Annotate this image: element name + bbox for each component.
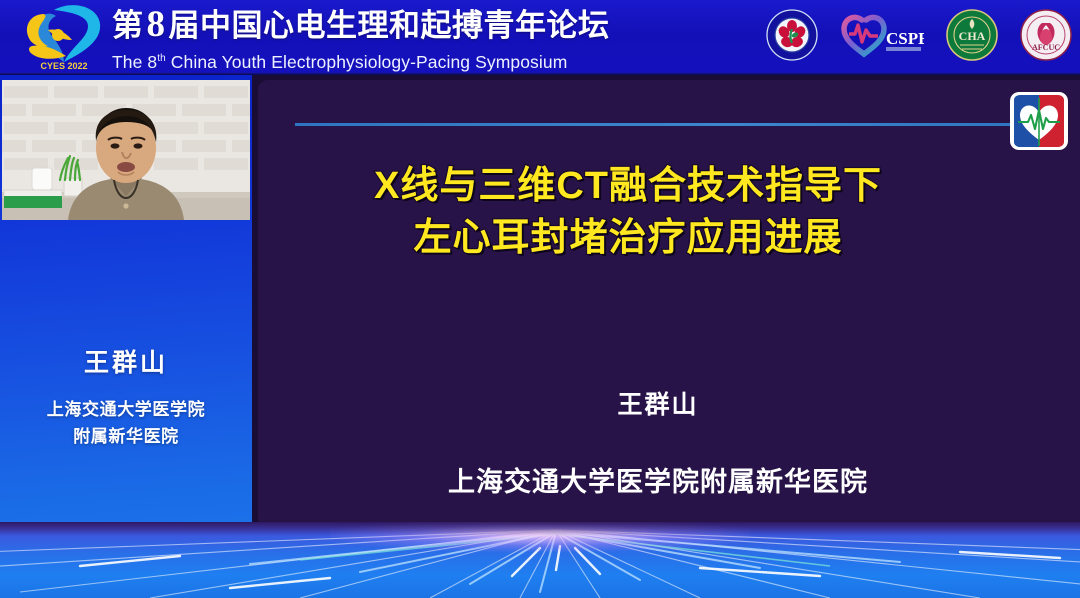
afcuc-logo-text: AFCUC (1032, 43, 1060, 52)
title-en-ordinal-suffix: th (157, 53, 166, 64)
presentation-slide: X线与三维CT融合技术指导下 左心耳封堵治疗应用进展 王群山 上海交通大学医学院… (258, 80, 1080, 528)
cyes-logo-year: CYES 2022 (40, 61, 87, 71)
desk-books (4, 190, 62, 208)
conference-header-banner: CYES 2022 第8届中国心电生理和起搏青年论坛 The 8th China… (0, 0, 1080, 75)
slide-title-line-1: X线与三维CT融合技术指导下 (258, 160, 998, 212)
title-cn-suffix: 届中国心电生理和起搏青年论坛 (169, 8, 610, 43)
organization-logos: CSPE CHA (766, 7, 1072, 67)
cyes-2022-logo: CYES 2022 (14, 2, 110, 72)
speaker-video-feed[interactable] (2, 80, 250, 220)
desk-cup (32, 168, 52, 190)
title-en-lead: The 8 (112, 52, 157, 72)
afcuc-logo: AFCUC (1020, 9, 1072, 66)
slide-title-line-2: 左心耳封堵治疗应用进展 (258, 212, 998, 264)
presentation-screen: CYES 2022 第8届中国心电生理和起搏青年论坛 The 8th China… (0, 0, 1080, 598)
xinhua-hospital-heart-ecg-logo (1008, 88, 1070, 156)
slide-title: X线与三维CT融合技术指导下 左心耳封堵治疗应用进展 (258, 160, 998, 264)
cha-logo: CHA (946, 9, 998, 66)
speaker-sidebar: 王群山 上海交通大学医学院 附属新华医院 2022年5月19-21日 湖北·武汉 (0, 75, 252, 598)
slide-presenter-affiliation: 上海交通大学医学院附属新华医院 (258, 460, 1058, 499)
cspe-logo: CSPE (840, 10, 924, 65)
title-en-rest: China Youth Electrophysiology-Pacing Sym… (166, 52, 568, 72)
perspective-light-rays-floor (0, 522, 1080, 598)
cha-logo-text: CHA (959, 29, 986, 43)
speaker-affiliation-line-2: 附属新华医院 (0, 423, 252, 450)
speaker-info-block: 王群山 上海交通大学医学院 附属新华医院 (0, 343, 252, 450)
conference-title-english: The 8th China Youth Electrophysiology-Pa… (112, 48, 610, 73)
header-title-group: 第8届中国心电生理和起搏青年论坛 The 8th China Youth Ele… (112, 3, 610, 73)
title-cn-prefix: 第 (112, 8, 144, 43)
plum-blossom-emblem-logo (766, 9, 818, 66)
floor-top-shadow (0, 522, 1080, 536)
speaker-affiliation-line-1: 上海交通大学医学院 (0, 396, 252, 423)
speaker-name: 王群山 (0, 343, 252, 379)
conference-title-chinese: 第8届中国心电生理和起搏青年论坛 (112, 3, 610, 48)
slide-presenter-name: 王群山 (258, 385, 1058, 421)
slide-divider-rule (295, 123, 1021, 126)
cspe-logo-text: CSPE (886, 29, 924, 48)
speaker-affiliation: 上海交通大学医学院 附属新华医院 (0, 396, 252, 450)
title-cn-edition-number: 8 (144, 4, 169, 45)
